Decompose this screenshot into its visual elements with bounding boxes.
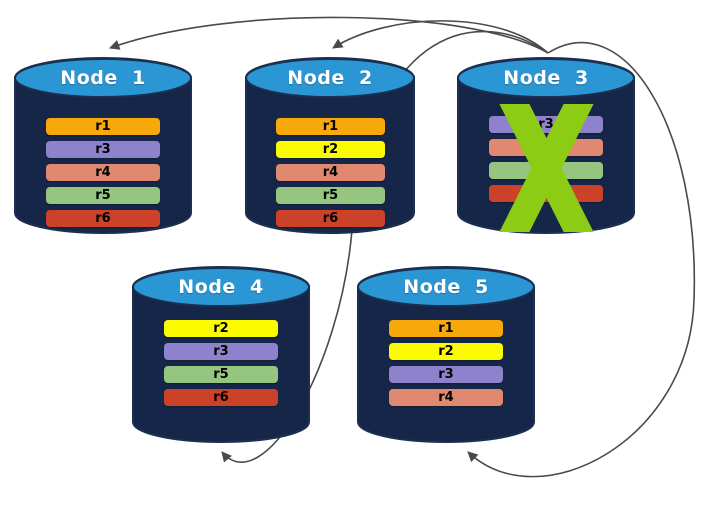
node-4[interactable]: Node 4r2r3r5r6: [132, 267, 310, 442]
node-1-replica-r4[interactable]: r4: [46, 164, 160, 181]
node-5-replica-r2[interactable]: r2: [389, 343, 503, 360]
node-4-replica-r5[interactable]: r5: [164, 366, 278, 383]
node-5-replica-r4[interactable]: r4: [389, 389, 503, 406]
node-2[interactable]: Node 2r1r2r4r5r6: [245, 58, 415, 233]
node-3-replica-r4[interactable]: r4: [489, 139, 603, 156]
node-1-replica-r6[interactable]: r6: [46, 210, 160, 227]
node-4-replica-r6[interactable]: r6: [164, 389, 278, 406]
node-1-replica-r5[interactable]: r5: [46, 187, 160, 204]
arrow-node3-to-node1: [110, 17, 548, 53]
node-3-top-disc: [458, 59, 634, 97]
node-5[interactable]: Node 5r1r2r3r4: [357, 267, 535, 442]
node-2-replica-r1[interactable]: r1: [276, 118, 385, 135]
node-5-top-disc: [358, 268, 534, 306]
node-2-replica-r2[interactable]: r2: [276, 141, 385, 158]
node-3-replica-r5[interactable]: r5: [489, 162, 603, 179]
node-2-replica-r6[interactable]: r6: [276, 210, 385, 227]
arrow-node3-to-node2: [333, 21, 548, 53]
node-1-top-disc: [15, 59, 191, 97]
node-2-top-disc: [246, 59, 414, 97]
node-4-replica-r2[interactable]: r2: [164, 320, 278, 337]
node-4-replica-r3[interactable]: r3: [164, 343, 278, 360]
node-2-replica-r4[interactable]: r4: [276, 164, 385, 181]
node-5-replica-r3[interactable]: r3: [389, 366, 503, 383]
node-1-replica-r1[interactable]: r1: [46, 118, 160, 135]
node-1[interactable]: Node 1r1r3r4r5r6: [14, 58, 192, 233]
node-3[interactable]: Node 3r3r4r5r6: [457, 58, 635, 233]
node-5-replica-r1[interactable]: r1: [389, 320, 503, 337]
node-4-top-disc: [133, 268, 309, 306]
node-3-replica-r3[interactable]: r3: [489, 116, 603, 133]
node-2-replica-r5[interactable]: r5: [276, 187, 385, 204]
node-1-replica-r3[interactable]: r3: [46, 141, 160, 158]
diagram-canvas: Node 1r1r3r4r5r6Node 2r1r2r4r5r6Node 3r3…: [0, 0, 708, 508]
node-3-replica-r6[interactable]: r6: [489, 185, 603, 202]
